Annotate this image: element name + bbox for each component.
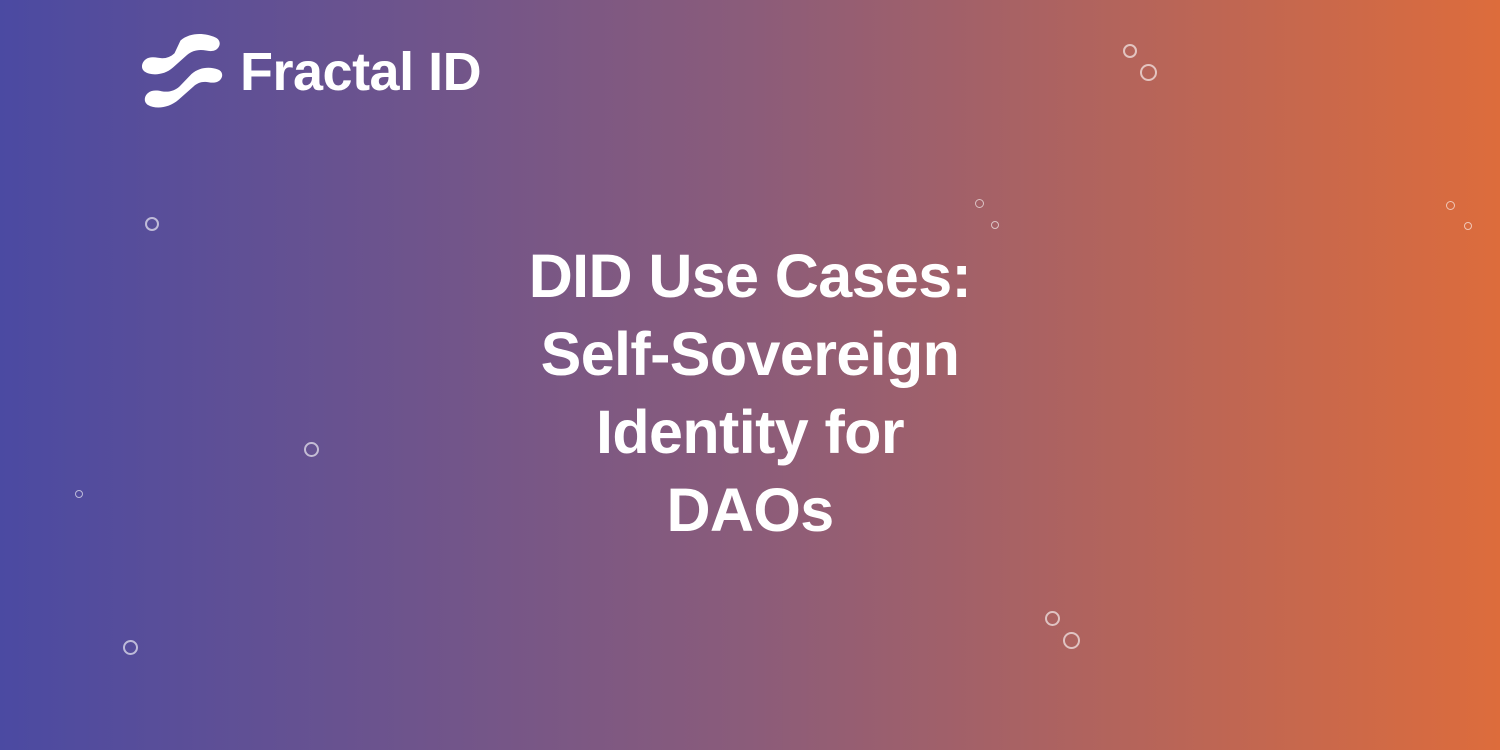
decorative-ring-12 — [123, 640, 138, 655]
banner-hero: Fractal ID DID Use Cases: Self-Sovereign… — [0, 0, 1500, 750]
decorative-ring-2 — [1140, 64, 1157, 81]
headline-line-2: Self-Sovereign — [490, 315, 1010, 393]
decorative-ring-1 — [1123, 44, 1137, 58]
decorative-ring-9 — [75, 490, 83, 498]
decorative-ring-7 — [1464, 222, 1472, 230]
brand-wordmark: Fractal ID — [240, 45, 481, 99]
decorative-ring-4 — [975, 199, 984, 208]
hero-headline: DID Use Cases: Self-Sovereign Identity f… — [490, 237, 1010, 549]
decorative-ring-5 — [991, 221, 999, 229]
decorative-ring-10 — [1045, 611, 1060, 626]
decorative-ring-6 — [1446, 201, 1455, 210]
headline-line-4: DAOs — [490, 471, 1010, 549]
decorative-ring-3 — [145, 217, 159, 231]
headline-line-1: DID Use Cases: — [490, 237, 1010, 315]
decorative-ring-11 — [1063, 632, 1080, 649]
decorative-ring-8 — [304, 442, 319, 457]
headline-line-3: Identity for — [490, 393, 1010, 471]
brand-logo[interactable]: Fractal ID — [142, 34, 481, 110]
fractal-id-logomark-icon — [142, 34, 226, 110]
